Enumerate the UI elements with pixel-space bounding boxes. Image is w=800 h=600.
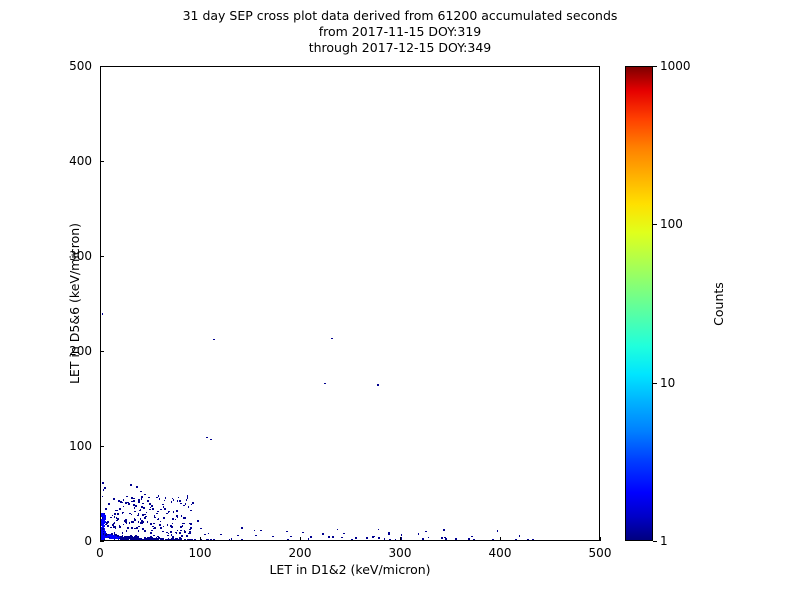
scatter-point	[138, 513, 140, 515]
scatter-point	[208, 540, 210, 541]
scatter-point	[171, 534, 173, 536]
scatter-point	[134, 507, 136, 509]
scatter-point	[103, 533, 105, 535]
scatter-point	[373, 536, 375, 538]
scatter-point	[141, 539, 143, 541]
scatter-point	[168, 533, 170, 535]
scatter-point	[411, 540, 413, 541]
scatter-point	[197, 520, 199, 522]
scatter-point	[156, 540, 158, 541]
scatter-point	[287, 539, 289, 541]
scatter-point	[172, 523, 174, 525]
scatter-point	[177, 516, 179, 518]
scatter-point	[108, 503, 110, 505]
scatter-point	[116, 535, 118, 537]
colorbar-tick-label: 100	[660, 217, 683, 231]
x-tick-label: 300	[389, 546, 412, 560]
colorbar-tick-mark	[653, 66, 657, 67]
scatter-point	[181, 515, 183, 517]
scatter-point	[414, 540, 416, 541]
scatter-point	[444, 537, 446, 539]
scatter-point	[177, 530, 179, 532]
scatter-point	[204, 534, 206, 536]
scatter-point	[183, 540, 185, 541]
scatter-point	[126, 530, 128, 532]
scatter-point	[123, 506, 125, 508]
scatter-point	[170, 531, 172, 533]
scatter-point	[121, 536, 123, 538]
scatter-point	[351, 539, 353, 541]
scatter-point	[254, 530, 256, 532]
scatter-point	[106, 536, 108, 538]
scatter-point	[144, 494, 146, 496]
scatter-point	[134, 539, 136, 541]
scatter-point	[114, 526, 116, 528]
scatter-point	[166, 540, 168, 541]
scatter-point	[133, 498, 135, 500]
scatter-point	[255, 535, 257, 537]
scatter-point	[102, 519, 104, 521]
scatter-point	[141, 520, 143, 522]
scatter-point	[168, 540, 170, 541]
scatter-point	[135, 519, 137, 521]
scatter-point	[225, 540, 227, 541]
scatter-point	[189, 529, 191, 531]
chart-title: 31 day SEP cross plot data derived from …	[0, 8, 800, 56]
scatter-point	[115, 527, 117, 529]
scatter-point	[200, 528, 202, 530]
scatter-point	[103, 489, 105, 491]
y-tick-mark	[100, 351, 104, 352]
scatter-point	[138, 521, 140, 523]
scatter-point	[158, 495, 160, 497]
x-tick-label: 200	[289, 546, 312, 560]
scatter-point	[140, 491, 142, 493]
x-tick-mark	[200, 537, 201, 541]
scatter-point	[166, 540, 168, 541]
scatter-point	[210, 439, 212, 441]
scatter-point	[126, 496, 128, 498]
scatter-point	[223, 540, 225, 541]
scatter-point	[110, 527, 112, 529]
scatter-point	[527, 539, 529, 541]
scatter-point	[105, 524, 107, 526]
scatter-point	[260, 530, 262, 532]
scatter-point	[175, 540, 177, 541]
scatter-point	[118, 500, 120, 502]
scatter-point	[132, 521, 134, 523]
scatter-point	[492, 539, 494, 541]
scatter-point	[179, 532, 181, 534]
scatter-point	[184, 540, 186, 541]
y-tick-mark	[100, 541, 104, 542]
scatter-point	[164, 500, 166, 502]
scatter-point	[110, 537, 112, 539]
scatter-point	[166, 540, 168, 541]
scatter-point	[337, 529, 339, 531]
scatter-point	[163, 526, 165, 528]
scatter-point	[366, 537, 368, 539]
scatter-point	[196, 540, 198, 541]
scatter-point	[130, 484, 132, 486]
scatter-point	[102, 496, 104, 498]
scatter-point	[308, 538, 310, 540]
title-line-3: through 2017-12-15 DOY:349	[0, 40, 800, 56]
scatter-point	[157, 540, 159, 541]
x-tick-mark	[300, 537, 301, 541]
colorbar-tick-label: 1000	[660, 59, 691, 73]
scatter-points-layer	[101, 67, 599, 540]
scatter-point	[141, 496, 143, 498]
scatter-point	[163, 517, 165, 519]
scatter-point	[142, 514, 144, 516]
scatter-point	[102, 535, 104, 537]
scatter-point	[152, 540, 154, 541]
scatter-point	[122, 532, 124, 534]
scatter-point	[211, 540, 213, 541]
scatter-point	[176, 532, 178, 534]
scatter-point	[532, 539, 534, 541]
scatter-point	[184, 531, 186, 533]
scatter-point	[102, 313, 104, 315]
scatter-point	[468, 538, 470, 540]
y-axis-label: LET in D5&6 (keV/micron)	[67, 66, 82, 541]
scatter-point	[176, 540, 178, 541]
scatter-point	[324, 383, 326, 385]
scatter-point	[227, 540, 229, 541]
colorbar-tick-mark	[653, 224, 657, 225]
scatter-point	[203, 540, 205, 541]
scatter-point	[108, 537, 110, 539]
scatter-point	[332, 536, 334, 538]
scatter-point	[105, 508, 107, 510]
scatter-point	[151, 505, 153, 507]
scatter-point	[179, 540, 181, 542]
x-tick-mark	[600, 537, 601, 541]
scatter-point	[331, 338, 333, 340]
scatter-point	[401, 534, 403, 536]
scatter-point	[180, 530, 182, 532]
scatter-point	[176, 510, 178, 512]
scatter-point	[219, 540, 221, 541]
scatter-point	[223, 540, 225, 541]
scatter-point	[137, 515, 139, 517]
scatter-point	[147, 500, 149, 502]
scatter-point	[322, 533, 324, 535]
scatter-point	[160, 541, 162, 542]
scatter-point	[180, 503, 182, 505]
scatter-point	[206, 437, 208, 439]
y-tick-mark	[100, 256, 104, 257]
scatter-point	[114, 516, 116, 518]
scatter-point	[144, 540, 146, 541]
colorbar-tick-mark	[653, 541, 657, 542]
scatter-point	[190, 539, 192, 541]
x-tick-label: 500	[589, 546, 612, 560]
scatter-point	[355, 537, 357, 539]
scatter-point	[162, 531, 164, 533]
scatter-point	[119, 508, 121, 510]
scatter-point	[136, 527, 138, 529]
scatter-point	[272, 536, 274, 538]
scatter-point	[152, 508, 154, 510]
scatter-point	[210, 540, 212, 541]
scatter-point	[123, 499, 125, 501]
scatter-point	[104, 487, 106, 489]
figure: 31 day SEP cross plot data derived from …	[0, 0, 800, 600]
scatter-point	[117, 513, 119, 515]
scatter-point	[113, 523, 115, 525]
scatter-point	[207, 539, 209, 541]
scatter-point	[181, 540, 183, 541]
scatter-point	[395, 539, 397, 541]
scatter-point	[167, 524, 169, 526]
scatter-point	[110, 517, 112, 519]
scatter-point	[139, 510, 141, 512]
scatter-point	[497, 530, 499, 532]
scatter-point	[107, 540, 109, 541]
scatter-point	[142, 503, 144, 505]
scatter-point	[389, 539, 391, 541]
scatter-point	[141, 498, 143, 500]
scatter-point	[144, 530, 146, 532]
scatter-point	[159, 524, 161, 526]
scatter-point	[165, 540, 167, 541]
scatter-point	[182, 525, 184, 527]
scatter-point	[445, 538, 447, 540]
scatter-point	[188, 506, 190, 508]
scatter-point	[138, 530, 140, 532]
scatter-point	[111, 533, 113, 535]
scatter-point	[133, 504, 135, 506]
scatter-point	[119, 540, 121, 541]
scatter-point	[148, 497, 150, 499]
scatter-point	[162, 504, 164, 506]
scatter-point	[204, 540, 206, 541]
scatter-point	[290, 536, 292, 538]
scatter-point	[160, 521, 162, 523]
scatter-point	[134, 511, 136, 513]
scatter-point	[208, 533, 210, 535]
scatter-point	[103, 525, 105, 527]
scatter-point	[160, 539, 162, 541]
scatter-point	[112, 515, 114, 517]
scatter-point	[153, 523, 155, 525]
scatter-point	[127, 527, 129, 529]
scatter-point	[143, 540, 145, 541]
scatter-point	[192, 540, 194, 541]
scatter-point	[302, 532, 304, 534]
scatter-point	[161, 540, 163, 541]
scatter-point	[183, 523, 185, 525]
scatter-point	[190, 510, 192, 512]
scatter-point	[106, 533, 108, 535]
scatter-point	[107, 525, 109, 527]
scatter-point	[153, 528, 155, 530]
scatter-point	[104, 518, 106, 520]
scatter-point	[133, 500, 135, 502]
scatter-point	[515, 539, 517, 541]
x-tick-mark	[400, 537, 401, 541]
scatter-point	[138, 537, 140, 539]
scatter-point	[216, 540, 218, 541]
scatter-point	[343, 533, 345, 535]
scatter-point	[164, 540, 166, 541]
scatter-point	[156, 540, 158, 541]
scatter-point	[165, 497, 167, 499]
scatter-point	[130, 535, 132, 537]
scatter-point	[135, 535, 137, 537]
scatter-point	[142, 521, 144, 523]
scatter-point	[418, 533, 420, 535]
y-tick-mark	[100, 66, 104, 67]
scatter-point	[207, 540, 209, 541]
scatter-point	[185, 503, 187, 505]
scatter-point	[172, 518, 174, 520]
scatter-point	[150, 523, 152, 525]
scatter-point	[186, 499, 188, 501]
x-tick-label: 100	[189, 546, 212, 560]
y-tick-mark	[100, 446, 104, 447]
scatter-point	[377, 384, 379, 386]
scatter-point	[119, 525, 121, 527]
scatter-point	[187, 495, 189, 497]
scatter-point	[104, 528, 106, 530]
scatter-point	[225, 540, 227, 541]
scatter-point	[147, 521, 149, 523]
scatter-point	[149, 503, 151, 505]
scatter-point	[168, 512, 170, 514]
scatter-point	[473, 539, 475, 541]
scatter-point	[164, 508, 166, 510]
scatter-point	[152, 540, 154, 541]
scatter-point	[141, 506, 143, 508]
scatter-point	[124, 540, 126, 541]
scatter-point	[170, 540, 172, 541]
scatter-point	[146, 512, 148, 514]
scatter-point	[154, 540, 156, 541]
scatter-point	[155, 538, 157, 540]
scatter-point	[201, 540, 203, 541]
scatter-point	[157, 536, 159, 538]
scatter-point	[123, 524, 125, 526]
scatter-point	[156, 513, 158, 515]
colorbar	[625, 66, 653, 541]
scatter-point	[310, 536, 312, 538]
scatter-point	[422, 538, 424, 540]
scatter-point	[157, 539, 159, 541]
scatter-point	[114, 533, 116, 535]
scatter-point	[149, 540, 151, 541]
colorbar-tick-label: 10	[660, 376, 675, 390]
x-tick-label: 400	[489, 546, 512, 560]
scatter-point	[131, 527, 133, 529]
scatter-point	[378, 529, 380, 531]
scatter-point	[172, 536, 174, 538]
scatter-point	[384, 538, 386, 540]
scatter-point	[104, 539, 106, 541]
scatter-point	[173, 499, 175, 501]
scatter-point	[150, 507, 152, 509]
scatter-point	[136, 486, 138, 488]
scatter-point	[154, 515, 156, 517]
scatter-point	[227, 540, 229, 541]
scatter-point	[158, 518, 160, 520]
scatter-point	[220, 534, 222, 536]
scatter-point	[176, 515, 178, 517]
scatter-point	[183, 505, 185, 507]
scatter-point	[210, 540, 212, 541]
scatter-point	[184, 539, 186, 541]
scatter-point	[227, 540, 229, 541]
scatter-point	[122, 513, 124, 515]
scatter-point	[114, 513, 116, 515]
scatter-point	[186, 535, 188, 537]
scatter-point	[212, 540, 214, 541]
scatter-point	[189, 531, 191, 533]
scatter-point	[150, 536, 152, 538]
scatter-point	[471, 536, 473, 538]
scatter-point	[181, 535, 183, 537]
scatter-point	[187, 539, 189, 541]
scatter-point	[428, 537, 430, 539]
scatter-point	[205, 540, 207, 541]
scatter-point	[177, 540, 179, 541]
scatter-point	[138, 501, 140, 503]
plot-area	[100, 66, 600, 541]
scatter-point	[102, 515, 104, 517]
scatter-point	[116, 520, 118, 522]
scatter-point	[183, 517, 185, 519]
scatter-point	[102, 482, 104, 484]
scatter-point	[149, 509, 151, 511]
scatter-point	[141, 540, 143, 541]
scatter-point	[161, 540, 163, 541]
scatter-point	[388, 532, 390, 534]
scatter-point	[147, 537, 149, 539]
scatter-point	[135, 505, 137, 507]
scatter-point	[455, 538, 457, 540]
scatter-point	[159, 498, 161, 500]
scatter-point	[152, 538, 154, 540]
scatter-point	[192, 502, 194, 504]
scatter-point	[121, 502, 123, 504]
scatter-point	[328, 536, 330, 538]
scatter-point	[102, 522, 104, 524]
scatter-point	[190, 540, 192, 541]
scatter-point	[115, 540, 117, 541]
scatter-point	[150, 532, 152, 534]
scatter-point	[143, 507, 145, 509]
scatter-point	[241, 527, 243, 529]
scatter-point	[341, 537, 343, 539]
colorbar-tick-mark	[653, 383, 657, 384]
scatter-point	[144, 517, 146, 519]
scatter-point	[149, 539, 151, 541]
scatter-point	[102, 528, 104, 530]
scatter-point	[378, 537, 380, 539]
scatter-point	[140, 518, 142, 520]
scatter-point	[175, 519, 177, 521]
scatter-point	[425, 531, 427, 533]
x-tick-label: 0	[96, 546, 104, 560]
scatter-point	[175, 540, 177, 541]
scatter-point	[213, 339, 215, 341]
scatter-point	[125, 521, 127, 523]
x-tick-mark	[500, 537, 501, 541]
scatter-point	[441, 537, 443, 539]
scatter-point	[171, 501, 173, 503]
